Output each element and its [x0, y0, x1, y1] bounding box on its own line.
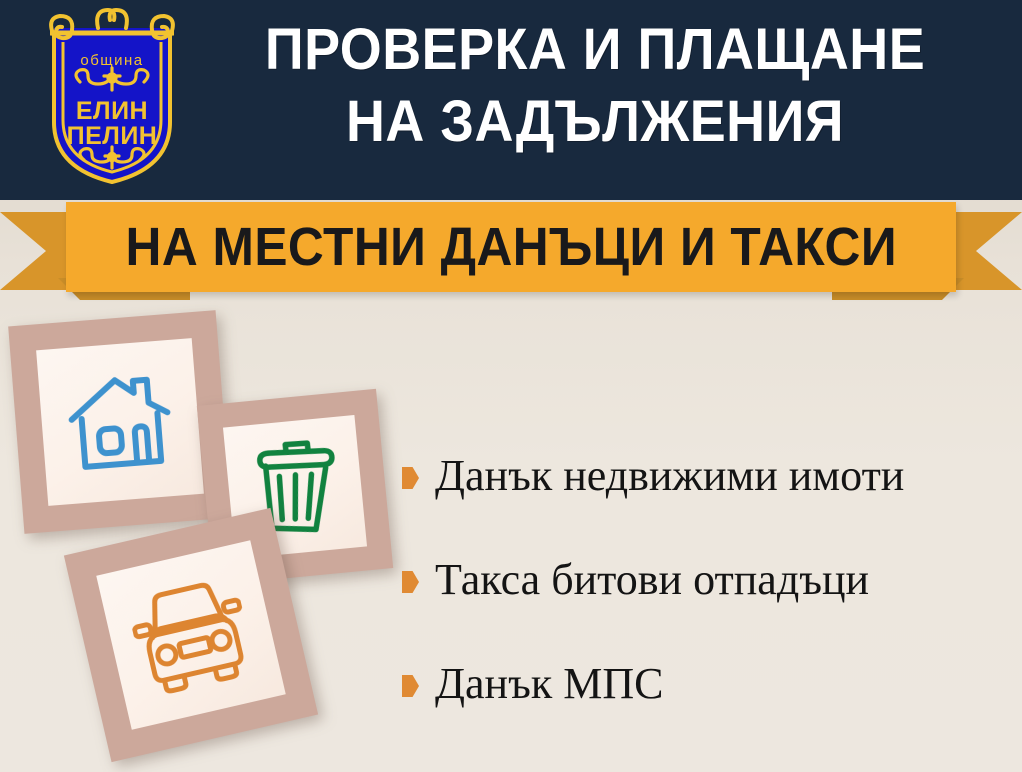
- tax-types-list: Данък недвижими имоти Такса битови отпад…: [402, 424, 1012, 736]
- tax-item-label: Данък недвижими имоти: [435, 451, 904, 501]
- municipality-crest: община ЕЛИН ПЕЛИН: [36, 6, 188, 188]
- list-item[interactable]: Данък недвижими имоти: [402, 424, 1012, 528]
- header-band: община ЕЛИН ПЕЛИН: [0, 0, 1022, 200]
- arrow-bullet-icon: [402, 675, 419, 697]
- ribbon-band: НА МЕСТНИ ДАНЪЦИ И ТАКСИ: [66, 202, 956, 292]
- tax-item-label: Такса битови отпадъци: [435, 555, 869, 605]
- crest-name-line-1: ЕЛИН: [76, 97, 148, 125]
- coat-of-arms-shield-icon: община ЕЛИН ПЕЛИН: [36, 6, 188, 188]
- tax-item-label: Данък МПС: [435, 659, 663, 709]
- page-title: ПРОВЕРКА И ПЛАЩАНЕ НА ЗАДЪЛЖЕНИЯ: [223, 14, 967, 158]
- list-item[interactable]: Такса битови отпадъци: [402, 528, 1012, 632]
- subtitle-ribbon: НА МЕСТНИ ДАНЪЦИ И ТАКСИ: [0, 198, 1022, 308]
- house-icon: [64, 366, 176, 478]
- list-item[interactable]: Данък МПС: [402, 632, 1012, 736]
- ribbon-label: НА МЕСТНИ ДАНЪЦИ И ТАКСИ: [125, 220, 897, 274]
- arrow-bullet-icon: [402, 571, 419, 593]
- page-title-line-2: НА ЗАДЪЛЖЕНИЯ: [223, 86, 967, 158]
- arrow-bullet-icon: [402, 467, 419, 489]
- poster-canvas: община ЕЛИН ПЕЛИН: [0, 0, 1022, 772]
- page-title-line-1: ПРОВЕРКА И ПЛАЩАНЕ: [223, 14, 967, 86]
